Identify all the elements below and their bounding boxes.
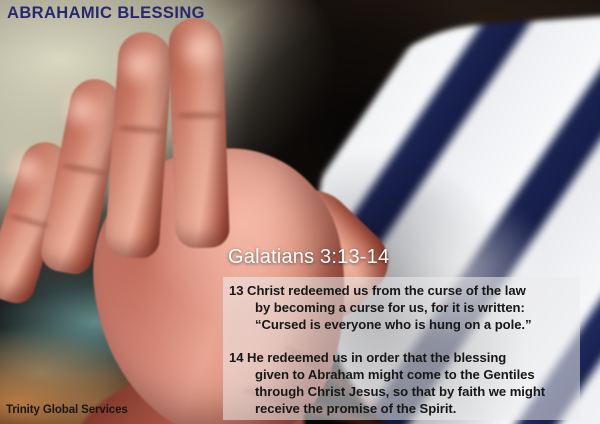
scripture-text-panel: 13 Christ redeemed us from the curse of … <box>223 277 580 420</box>
footer-brand: Trinity Global Services <box>6 404 128 416</box>
presentation-slide: ABRAHAMIC BLESSING Galatians 3:13-14 13 … <box>0 0 600 424</box>
verse-13: 13 Christ redeemed us from the curse of … <box>229 282 572 334</box>
verse-14: 14 He redeemed us in order that the bles… <box>229 349 572 418</box>
scripture-reference-heading: Galatians 3:13-14 <box>228 246 389 269</box>
slide-title: ABRAHAMIC BLESSING <box>7 4 205 23</box>
